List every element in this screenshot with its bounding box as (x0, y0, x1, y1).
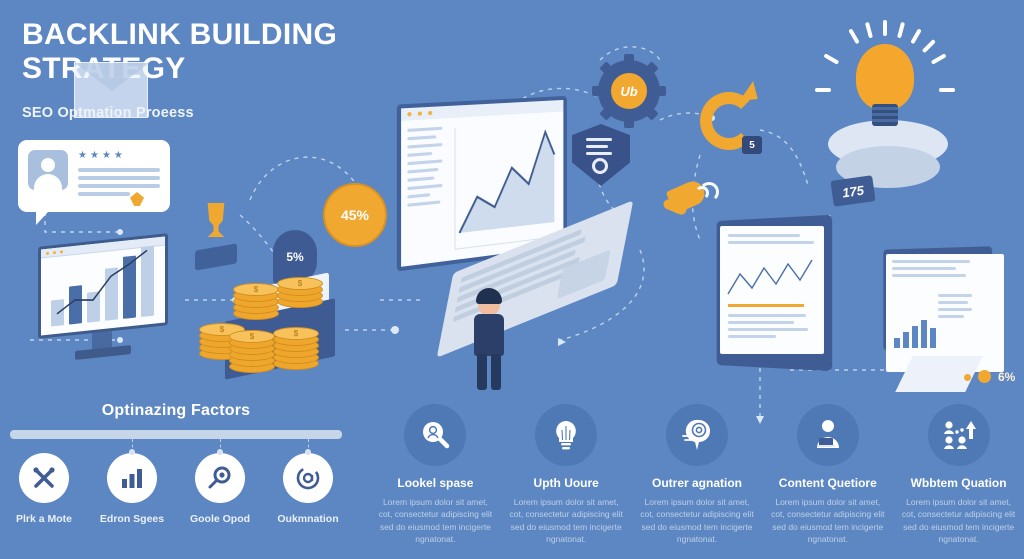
gear-label: Ub (611, 73, 647, 109)
star-icon: ★ (102, 151, 111, 161)
factor-label: Oukmnation (264, 513, 352, 525)
idea-node: 175 (810, 20, 970, 205)
card-body: Lorem ipsum dolor sit amet, cot, consect… (900, 496, 1017, 545)
money-cluster: 45% 5% $ $ $ $ (195, 175, 410, 390)
lightbulb-icon (535, 404, 597, 466)
user-avatar-icon (28, 150, 68, 190)
review-text-lines (78, 168, 160, 200)
card-content-quetiore[interactable]: Content Quetiore Lorem ipsum dolor sit a… (762, 404, 893, 545)
factors-progress-bar (10, 430, 342, 439)
location-pin-at-icon (666, 404, 728, 466)
percent-label-6: 6% (998, 370, 1015, 384)
factor-label: Goole Opod (176, 513, 264, 525)
person-laptop-icon (797, 404, 859, 466)
card-title: Outrer agnation (639, 476, 756, 490)
magnifier-icon (195, 453, 245, 503)
star-icon: ★ (114, 151, 123, 161)
envelope-icon (74, 62, 148, 118)
bar-chart-icon (107, 453, 157, 503)
shield-lock-icon (572, 124, 630, 186)
card-body: Lorem ipsum dolor sit amet, cot, consect… (377, 496, 494, 545)
left-monitor-bar-chart (51, 255, 157, 326)
monitor-report-icon (880, 248, 1010, 378)
small-box-shape (195, 243, 237, 270)
value-badge-175: 175 (830, 175, 875, 207)
coin-icon (964, 374, 971, 381)
tools-cross-icon (19, 453, 69, 503)
card-title: Wbbtem Quation (900, 476, 1017, 490)
person-search-icon (404, 404, 466, 466)
card-lookel-spase[interactable]: Lookel spase Lorem ipsum dolor sit amet,… (370, 404, 501, 545)
factor-label: Edron Sgees (88, 513, 176, 525)
refresh-badge: 5 (742, 136, 762, 154)
card-title: Content Quetiore (769, 476, 886, 490)
card-title: Lookel spase (377, 476, 494, 490)
coin-icon (978, 370, 991, 383)
card-title: Upth Uoure (508, 476, 625, 490)
percent-badge-45: 45% (323, 183, 387, 247)
factor-item-automation[interactable]: Oukmnation (264, 453, 352, 525)
desktop-monitor-icon (30, 240, 180, 370)
factor-label: Plrk a Mote (0, 513, 88, 525)
gear-icon: Ub (598, 60, 660, 122)
refresh-arrow-icon: 5 (700, 92, 758, 150)
infographic-canvas: BACKLINK BUILDING STRATEGY SEO Optmation… (0, 0, 1024, 559)
factor-item-tools[interactable]: Plrk a Mote (0, 453, 88, 525)
card-wbbtem-quation[interactable]: Wbbtem Quation Lorem ipsum dolor sit ame… (893, 404, 1024, 545)
lightbulb-icon (856, 44, 914, 110)
card-body: Lorem ipsum dolor sit amet, cot, consect… (508, 496, 625, 545)
standing-person-icon (466, 286, 512, 390)
factors-title: Optinazing Factors (0, 402, 352, 420)
card-body: Lorem ipsum dolor sit amet, cot, consect… (769, 496, 886, 545)
megaphone-icon (655, 180, 715, 230)
star-rating: ★ ★ ★ ★ (78, 151, 123, 161)
star-icon: ★ (78, 151, 87, 161)
optimizing-factors-section: Optinazing Factors Plrk a Mote (0, 402, 352, 525)
bottom-cards-row: Lookel spase Lorem ipsum dolor sit amet,… (370, 404, 1024, 545)
star-icon: ★ (90, 151, 99, 161)
card-outrer-agnation[interactable]: Outrer agnation Lorem ipsum dolor sit am… (632, 404, 763, 545)
review-bubble: ★ ★ ★ ★ (18, 140, 170, 212)
tablet-document-icon (712, 218, 832, 368)
card-upth-uoure[interactable]: Upth Uoure Lorem ipsum dolor sit amet, c… (501, 404, 632, 545)
factor-item-magnifier[interactable]: Goole Opod (176, 453, 264, 525)
dashboard-line-chart (454, 122, 556, 250)
dashboard-sidebar-lines (407, 126, 446, 212)
trophy-icon (203, 203, 229, 237)
team-growth-icon (928, 404, 990, 466)
at-sign-refresh-icon (283, 453, 333, 503)
card-body: Lorem ipsum dolor sit amet, cot, consect… (639, 496, 756, 545)
factor-item-chart[interactable]: Edron Sgees (88, 453, 176, 525)
